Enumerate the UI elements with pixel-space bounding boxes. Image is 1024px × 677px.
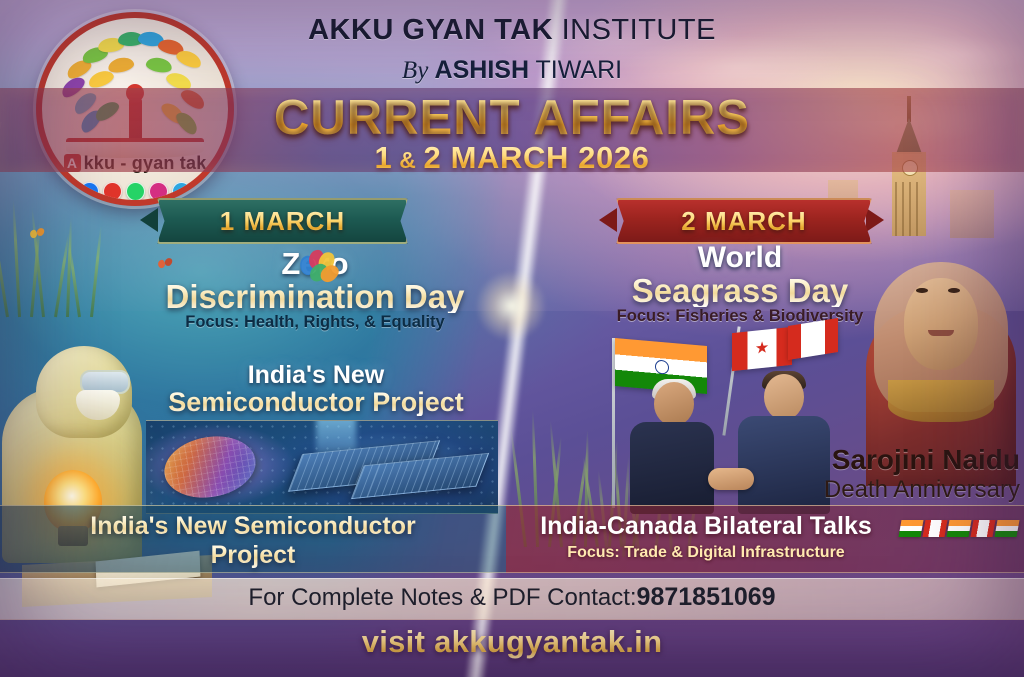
by-prefix: By [402,57,435,84]
butterfly-small-icon [30,228,46,241]
butterfly-icon [300,250,340,284]
ribbon-tail-right-end [866,208,884,232]
author-name-light: TIWARI [529,56,622,84]
topic-semiconductor-upper: India's New Semiconductor Project [130,363,502,416]
sarojini-naidu-caption: Sarojini Naidu Death Anniversary [690,444,1020,504]
topic-zero-focus: Focus: Health, Rights, & Equality [185,313,444,331]
date-ribbon-1-march[interactable]: 1 MARCH [157,198,408,244]
portrait-mouth-icon [928,330,954,336]
focus-label: Focus: [185,313,239,331]
contact-line: For Complete Notes & PDF Contact:9871851… [0,583,1024,612]
ribbon-1-label: 1 MARCH [220,206,345,237]
instagram-icon[interactable] [149,182,168,201]
focus-label-3: Focus: [567,544,619,561]
right-band-caption: India-Canada Bilateral Talks Focus: Trad… [506,512,906,562]
left-band-line2: Project [0,541,506,570]
website-link[interactable]: visit akkugyantak.in [0,624,1024,660]
leader2-head-icon [764,374,804,420]
right-band-line1: India-Canada Bilateral Talks [506,512,906,541]
ribbon-tail-left [140,208,158,232]
mini-flags-row [900,508,1020,548]
mini-canada-flag-2-icon [971,520,996,537]
author-name-bold: ASHISH [435,56,529,84]
facebook-icon[interactable] [80,182,99,201]
sarojini-subtitle: Death Anniversary [690,476,1020,504]
left-band-caption: India's New Semiconductor Project [0,512,506,570]
institute-name-bold: AKKU GYAN TAK [308,14,553,46]
butterfly-small-2-icon [158,258,174,271]
institute-name-light: INSTITUTE [553,14,716,46]
right-band-focus: Focus: Trade & Digital Infrastructure [506,544,906,562]
left-band-line1: India's New Semiconductor [0,512,506,541]
author-line: By ASHISH TIWARI [0,56,1024,85]
ribbon-2-label: 2 MARCH [681,206,806,237]
topic-semi-line2: Semiconductor Project [130,389,502,417]
telegram-icon[interactable] [172,182,191,201]
canada-flag-icon: ★ [732,327,792,371]
date-subtitle: 1 & 2 MARCH 2026 [0,140,1024,176]
focus-value-3: Trade & Digital Infrastructure [620,544,845,561]
institute-title: AKKU GYAN TAK INSTITUTE [0,14,1024,47]
date-rest: 2 MARCH 2026 [424,140,650,175]
date-ampersand: & [392,147,423,173]
portrait-eye-left-icon [916,288,928,293]
contact-text: For Complete Notes & PDF Contact: [248,584,636,611]
mini-india-flag-2-icon [947,520,972,537]
ashoka-chakra-icon [655,359,669,374]
date-ribbon-2-march[interactable]: 2 MARCH [616,198,872,244]
distant-building-2-icon [950,190,994,238]
focus-label-2: Focus: [617,307,671,325]
maple-leaf-icon: ★ [755,340,769,358]
sarojini-name: Sarojini Naidu [690,444,1020,476]
topic-semi-line1: India's New [130,363,502,389]
topic-zero-line2: Discrimination Day [130,280,500,314]
poster-canvas: A kku - gyan tak AKKU GYAN TAK INSTITUTE… [0,0,1024,677]
portrait-face-icon [904,278,978,370]
mini-india-flag-3-icon [995,520,1020,537]
date-day-1: 1 [374,140,392,175]
youtube-icon[interactable] [103,182,122,201]
semiconductor-artwork [146,420,498,514]
contact-number[interactable]: 9871851069 [637,583,776,611]
portrait-eye-right-icon [948,288,960,293]
ribbon-tail-right-start [599,208,617,232]
whatsapp-icon[interactable] [126,182,145,201]
social-icons[interactable] [42,182,228,201]
leader-head-icon [654,382,694,426]
mini-canada-flag-icon [923,520,948,537]
portrait-gold-drape-icon [888,380,994,422]
focus-value: Health, Rights, & Equality [239,313,444,331]
mini-india-flag-icon [899,520,924,537]
page-title: CURRENT AFFAIRS [0,90,1024,146]
